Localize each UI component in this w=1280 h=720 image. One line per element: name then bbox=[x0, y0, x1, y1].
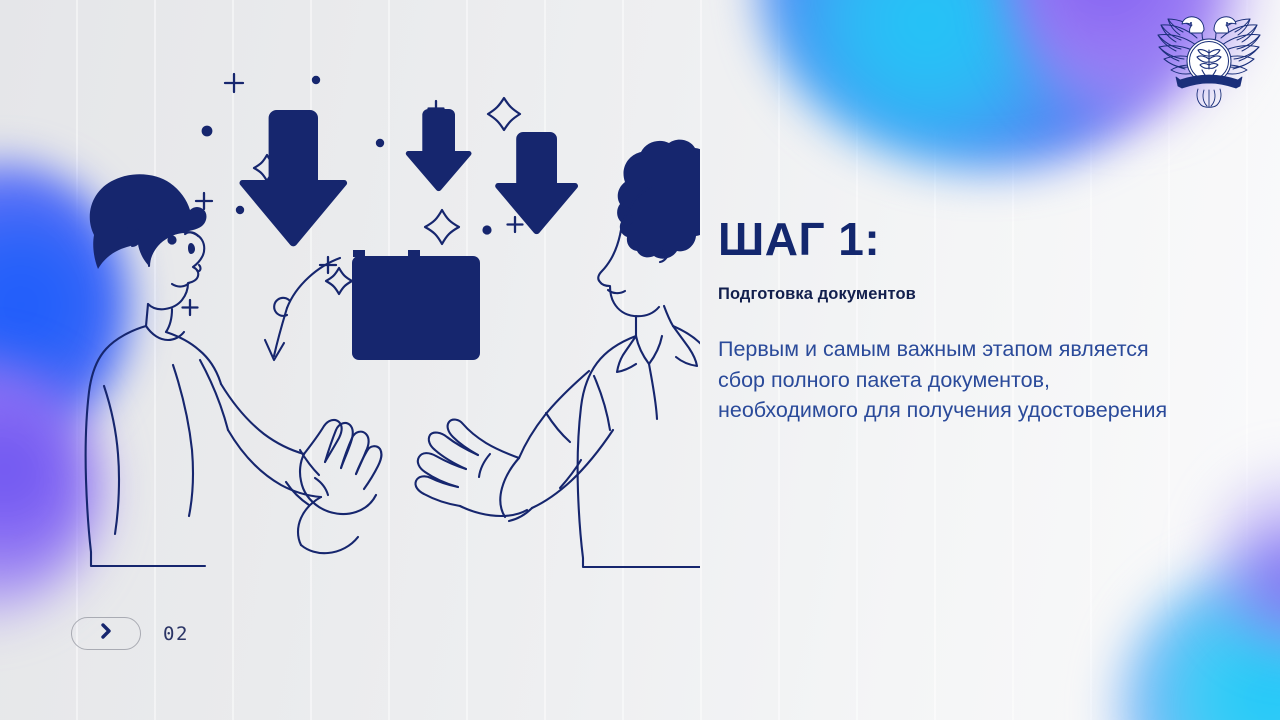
body-paragraph: Первым и самым важным этапом является сб… bbox=[718, 334, 1178, 426]
gradient-blob-bottom-right bbox=[1120, 560, 1280, 720]
next-slide-button[interactable] bbox=[71, 617, 141, 650]
down-arrows bbox=[240, 109, 578, 246]
person-left bbox=[86, 174, 382, 566]
gradient-blob-bottom-right-purple bbox=[1215, 470, 1280, 650]
person-right-hand bbox=[415, 420, 532, 521]
person-left-hands bbox=[298, 420, 381, 553]
page-subtitle: Подготовка документов bbox=[718, 285, 1198, 304]
chevron-right-icon bbox=[98, 622, 114, 645]
footer: 02 bbox=[71, 617, 189, 650]
two-people-exchanging-documents-illustration bbox=[60, 30, 700, 575]
page-number: 02 bbox=[163, 623, 189, 645]
slide-root: ШАГ 1: Подготовка документов Первым и са… bbox=[0, 0, 1280, 720]
double-headed-eagle-emblem bbox=[1152, 6, 1266, 110]
gradient-blob-top bbox=[760, 0, 1200, 170]
page-title: ШАГ 1: bbox=[718, 215, 1198, 263]
text-column: ШАГ 1: Подготовка документов Первым и са… bbox=[718, 215, 1198, 426]
briefcase bbox=[352, 250, 480, 360]
